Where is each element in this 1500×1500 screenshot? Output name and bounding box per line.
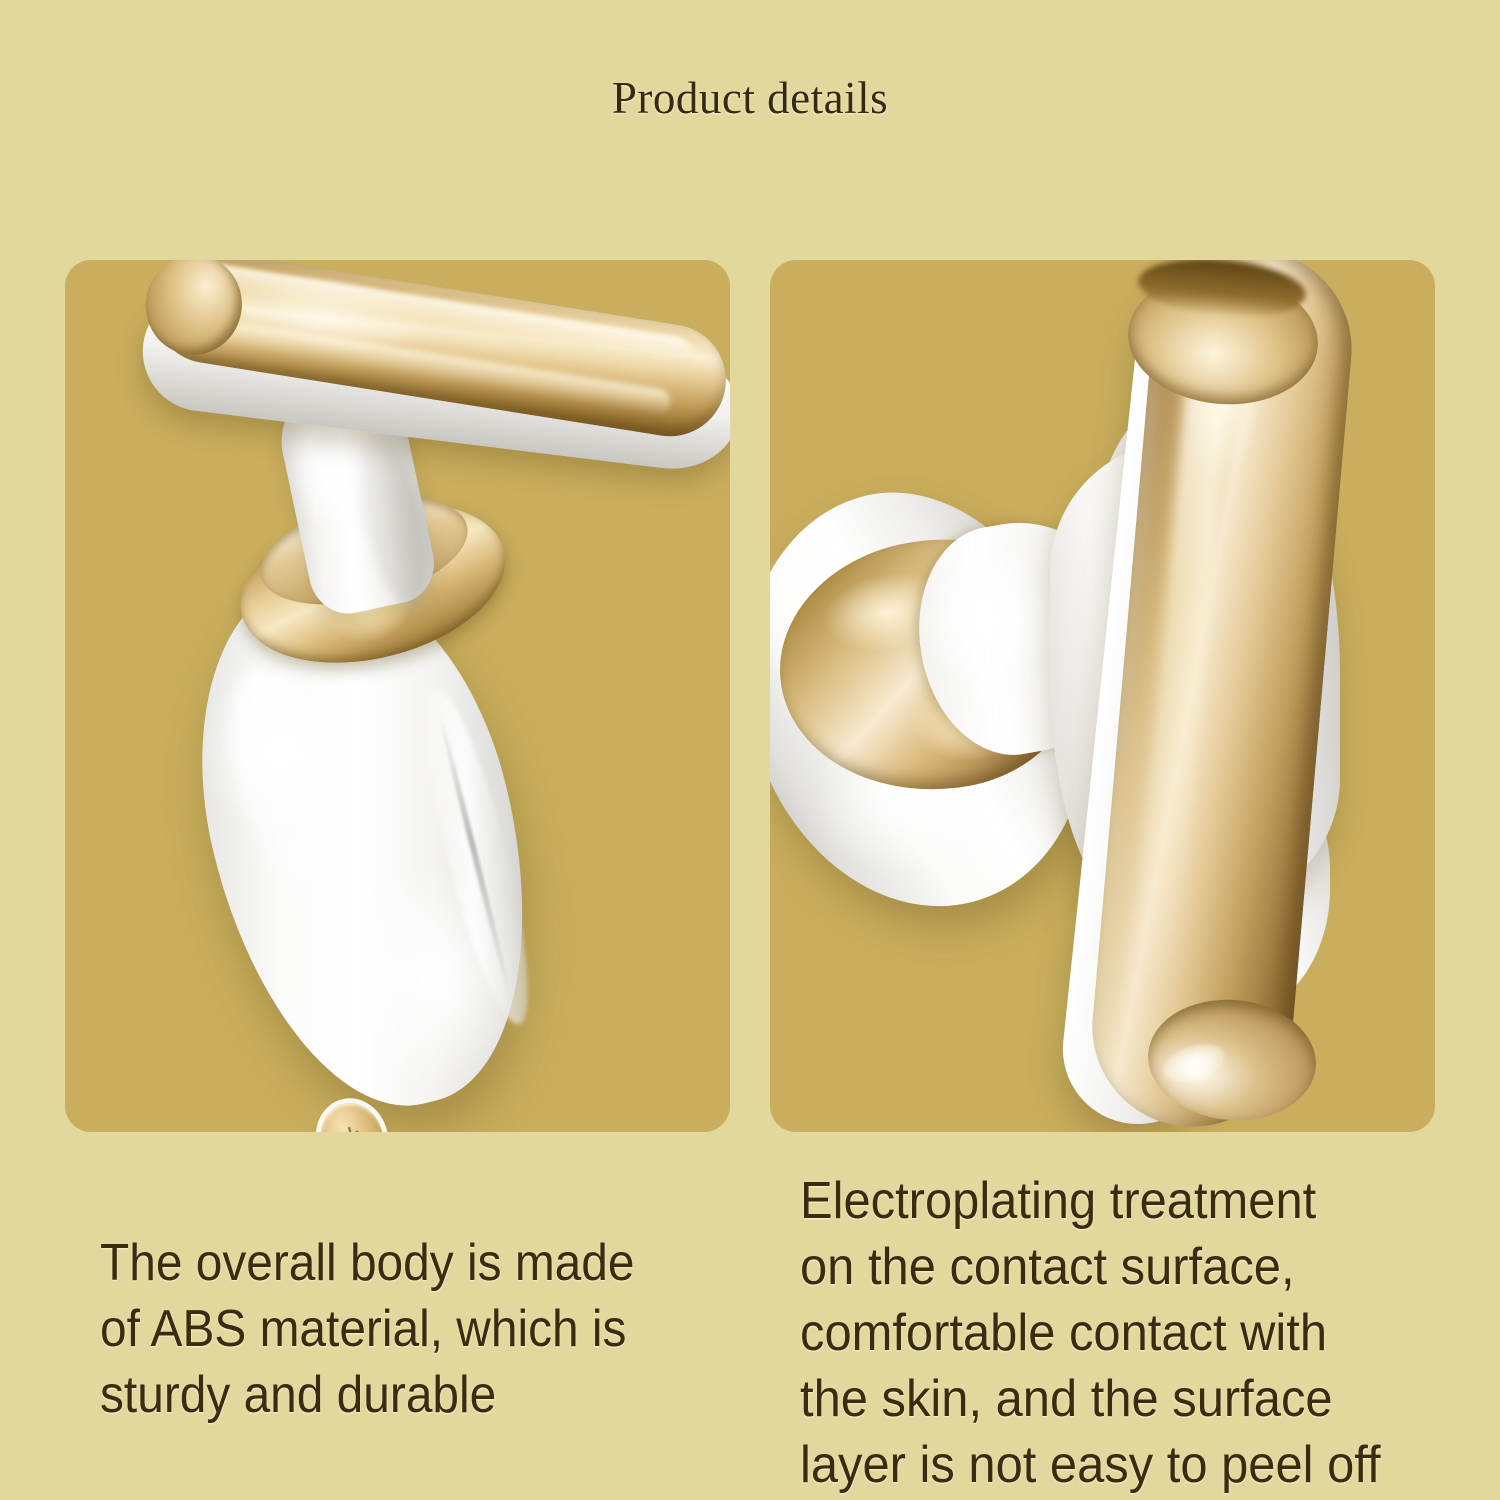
caption-right-line-3: comfortable contact with [800,1300,1420,1366]
caption-right: Electroplating treatment on the contact … [800,1168,1420,1498]
caption-right-line-4: the skin, and the surface [800,1366,1420,1432]
caption-left-line-3: sturdy and durable [100,1362,707,1428]
product-image-panel-left [65,260,730,1132]
caption-left-line-2: of ABS material, which is [100,1296,707,1362]
product-details-page: Product details [0,0,1500,1500]
caption-right-line-5: layer is not easy to peel off [800,1432,1420,1498]
product-image-panel-right [770,260,1435,1132]
caption-right-line-2: on the contact surface, [800,1234,1420,1300]
page-title: Product details [0,72,1500,124]
caption-left-line-1: The overall body is made [100,1230,707,1296]
body-highlight [211,657,355,919]
power-icon [334,1121,370,1132]
product-render-right [770,260,1435,1132]
caption-left: The overall body is made of ABS material… [100,1230,707,1428]
power-button[interactable] [313,1097,391,1132]
caption-right-line-1: Electroplating treatment [800,1168,1420,1234]
product-render-left [65,260,730,1132]
